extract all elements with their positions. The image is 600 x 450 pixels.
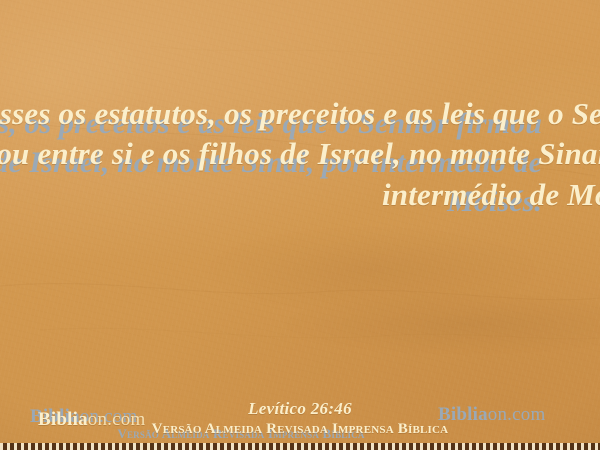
verse-image-canvas: São esses os estatutos, os preceitos e a… [0,0,600,450]
verse-text: São esses os estatutos, os preceitos e a… [0,94,600,215]
site-logo-bold: Biblia [38,409,88,430]
site-logo-ghost-right-light: on.com [488,404,546,425]
site-logo-light: on.com [88,409,146,430]
site-logo[interactable]: Bibliaon.com [38,409,145,431]
paper-crack-lines [0,0,600,450]
site-logo-ghost-right-bold: Biblia [438,404,488,425]
site-logo-ghost-right: Bibliaon.com [438,404,545,426]
bottom-dashed-rule [0,443,600,450]
verse-body: ão esses os estatutos, os preceitos e as… [0,96,600,212]
